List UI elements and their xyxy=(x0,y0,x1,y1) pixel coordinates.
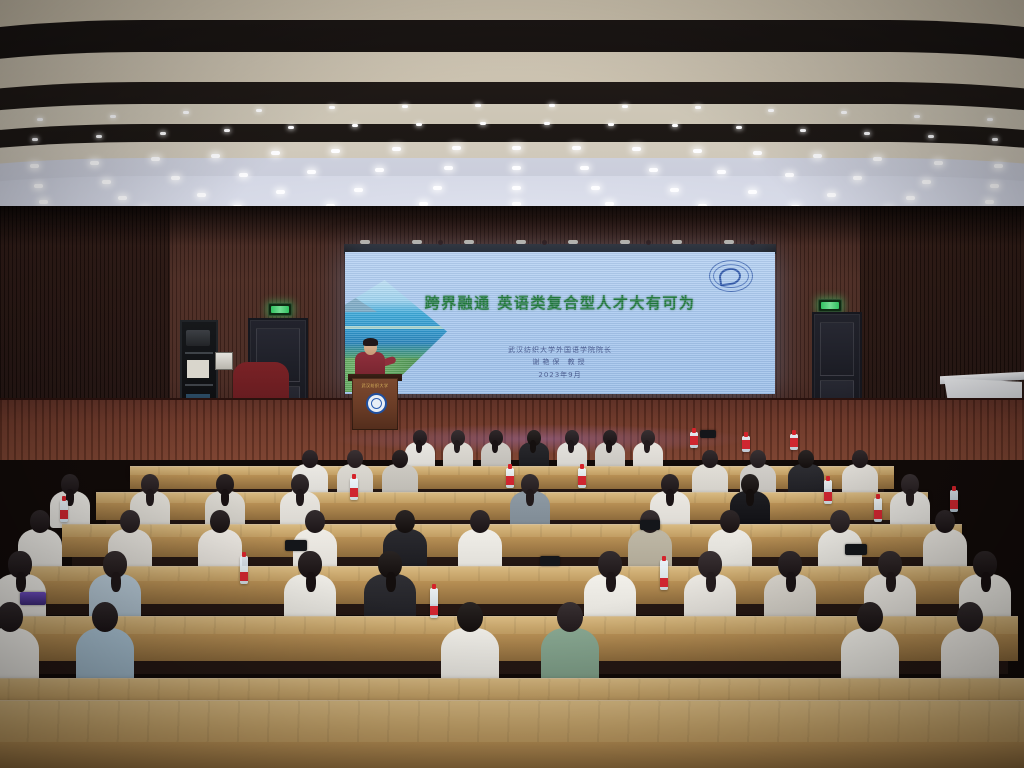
ceiling-downlight xyxy=(392,147,401,151)
podium-name-plate: 武汉纺织大学 xyxy=(352,383,398,389)
water-bottle xyxy=(60,500,68,522)
bottle-label xyxy=(824,492,832,501)
screen-hood-light xyxy=(516,240,526,244)
ceiling-speaker-dot xyxy=(542,240,547,245)
screen-hood-light xyxy=(568,240,578,244)
ceiling-downlight xyxy=(992,138,998,141)
ceiling-downlight xyxy=(649,168,658,172)
audience-person-ponytail xyxy=(492,440,498,453)
ceiling-downlight xyxy=(512,186,521,190)
bottle-label xyxy=(506,476,514,485)
ceiling-downlight xyxy=(480,122,486,125)
ceiling-downlight xyxy=(693,149,702,153)
ceiling-downlight xyxy=(990,184,999,188)
ceiling-downlight xyxy=(34,184,43,188)
audience-person-ponytail xyxy=(606,440,612,453)
ceiling-speaker-dot xyxy=(438,240,443,245)
ceiling-downlight xyxy=(211,154,220,158)
ceiling-downlight xyxy=(197,193,206,197)
audience-person-head xyxy=(798,450,814,468)
exit-sign-right xyxy=(818,299,842,312)
ceiling-downlight xyxy=(853,176,862,180)
audience-person-head xyxy=(395,510,415,533)
audience-person-ponytail xyxy=(981,572,991,593)
audience-person-head xyxy=(30,510,50,533)
ceiling-downlight xyxy=(30,164,39,168)
audience-person-ponytail xyxy=(746,489,754,506)
audience-person-torso xyxy=(441,628,500,682)
ceiling-downlight xyxy=(416,123,422,126)
ceiling-downlight xyxy=(402,105,408,108)
ceiling-downlight xyxy=(90,161,99,165)
audience-person-head xyxy=(302,450,318,468)
bottle-label xyxy=(950,500,958,509)
ceiling-speaker-dot xyxy=(750,240,755,245)
smartphone xyxy=(700,430,716,438)
audience-person-ponytail xyxy=(530,440,536,453)
audience-person-ponytail xyxy=(644,440,650,453)
audience-person-head xyxy=(120,510,140,533)
speaker-hair xyxy=(363,338,378,346)
ceiling-downlight xyxy=(352,124,358,127)
ceiling-downlight xyxy=(994,164,1003,168)
ceiling-downlight xyxy=(827,193,836,197)
ceiling-downlight xyxy=(452,146,461,150)
ceiling-downlight xyxy=(307,170,316,174)
ceiling-downlight xyxy=(608,123,614,126)
bottle-label xyxy=(690,436,698,445)
ceiling-downlight xyxy=(444,166,453,170)
ceiling-downlight xyxy=(748,190,757,194)
ceiling-downlight xyxy=(375,168,384,172)
smartphone xyxy=(285,540,307,551)
audience-person-head xyxy=(210,510,230,533)
audience-person-ponytail xyxy=(786,572,796,593)
ceiling-downlight xyxy=(672,124,678,127)
water-bottle xyxy=(578,468,586,488)
screen-hood-light xyxy=(620,240,630,244)
audience-person-torso xyxy=(458,529,503,570)
ceiling-downlight xyxy=(239,173,248,177)
audience-person-ponytail xyxy=(16,572,26,593)
water-bottle xyxy=(430,588,438,618)
audience-person-ponytail xyxy=(306,572,316,593)
screen-hood-light xyxy=(672,240,682,244)
bottle-label xyxy=(350,488,358,497)
ceiling-downlight xyxy=(110,115,116,118)
side-equipment-box xyxy=(215,352,233,370)
ceiling-downlight xyxy=(785,173,794,177)
bottle-label xyxy=(660,578,668,587)
screen-hood-light xyxy=(464,240,474,244)
wall-top-shadow xyxy=(0,206,1024,246)
audience-person-torso xyxy=(76,628,135,682)
ceiling-downlight xyxy=(934,161,943,165)
audience-person-ponytail xyxy=(416,440,422,453)
auditorium-ceiling xyxy=(0,0,1024,232)
ceiling-downlight xyxy=(873,157,882,161)
audience-person-head xyxy=(392,450,408,468)
water-bottle xyxy=(240,556,248,584)
podium-seal-emblem xyxy=(366,393,387,414)
rack-shelf xyxy=(185,384,213,386)
ceiling-speaker-dot xyxy=(646,240,651,245)
water-bottle xyxy=(690,432,698,448)
ceiling-downlight xyxy=(96,135,102,138)
ceiling-downlight xyxy=(544,122,550,125)
lecture-desk xyxy=(0,678,1024,701)
ceiling-downlight xyxy=(37,118,43,121)
audience-person-ponytail xyxy=(706,572,716,593)
ceiling-downlight xyxy=(39,200,48,204)
ceiling-downlight xyxy=(160,132,166,135)
ceiling-downlight xyxy=(276,190,285,194)
ceiling-downlight xyxy=(118,196,127,200)
audience-person-ponytail xyxy=(906,489,914,506)
ceiling-downlight xyxy=(736,126,742,129)
audience-person-head xyxy=(702,450,718,468)
audience-person-head xyxy=(347,450,363,468)
led-presentation-screen: 跨界融通 英语类复合型人才大有可为 武汉纺织大学外国语学院院长 谢艳保 教授 2… xyxy=(345,252,775,394)
ceiling-downlight xyxy=(800,129,806,132)
lecture-desk-front xyxy=(30,581,994,604)
ceiling-downlight xyxy=(914,115,920,118)
ceiling-downlight xyxy=(271,151,280,155)
rack-shelf xyxy=(185,352,213,354)
ceiling-downlight xyxy=(768,109,774,112)
ceiling-downlight xyxy=(928,135,934,138)
bottle-label xyxy=(790,438,798,447)
rack-notice-paper xyxy=(187,360,209,378)
foreground-desk-front xyxy=(0,742,1024,768)
audience-person-ponytail xyxy=(568,440,574,453)
audience-person-ponytail xyxy=(386,572,396,593)
audience-person-ponytail xyxy=(296,489,304,506)
ceiling-downlight xyxy=(717,170,726,174)
ceiling-downlight xyxy=(753,151,762,155)
door-panel-upper xyxy=(820,322,854,376)
screen-hood-light xyxy=(360,240,370,244)
bottle-label xyxy=(240,572,248,581)
audience-person-torso xyxy=(0,628,39,682)
ceiling-downlight xyxy=(906,196,915,200)
audience-person-head xyxy=(750,450,766,468)
audience-person-ponytail xyxy=(111,572,121,593)
desk-storage-shelf xyxy=(40,604,984,615)
ceiling-downlight xyxy=(670,188,679,192)
smartphone xyxy=(640,520,660,530)
ceiling-downlight xyxy=(512,146,521,150)
ceiling-downlight xyxy=(622,105,628,108)
screen-hood-light xyxy=(724,240,734,244)
ceiling-downlight xyxy=(151,157,160,161)
water-bottle xyxy=(660,560,668,590)
rack-equipment-icon xyxy=(186,330,210,346)
ceiling-downlight xyxy=(549,104,555,107)
ceiling-downlight xyxy=(32,138,38,141)
audience-person-head xyxy=(470,510,490,533)
audience-person-head xyxy=(852,450,868,468)
audience-person-ponytail xyxy=(454,440,460,453)
audience-person-head xyxy=(935,510,955,533)
audience-person-ponytail xyxy=(606,572,616,593)
audience-person-ponytail xyxy=(666,489,674,506)
foreground-desk xyxy=(0,700,1024,743)
smartphone xyxy=(540,556,560,566)
water-bottle xyxy=(506,468,514,488)
ceiling-downlight xyxy=(922,180,931,184)
ceiling-downlight xyxy=(171,176,180,180)
lecture-hall-photo: 跨界融通 英语类复合型人才大有可为 武汉纺织大学外国语学院院长 谢艳保 教授 2… xyxy=(0,0,1024,768)
smartphone xyxy=(845,544,867,555)
audience-person-torso xyxy=(841,628,900,682)
water-bottle xyxy=(824,480,832,504)
water-bottle xyxy=(742,436,750,452)
audience-person-ponytail xyxy=(146,489,154,506)
lecture-desk xyxy=(30,566,994,582)
ceiling-downlight xyxy=(354,188,363,192)
water-bottle xyxy=(790,434,798,450)
audience-person-ponytail xyxy=(526,489,534,506)
bottle-label xyxy=(742,440,750,449)
smartphone xyxy=(20,592,46,605)
ceiling-downlight xyxy=(102,180,111,184)
water-bottle xyxy=(950,490,958,512)
audience-person-torso xyxy=(198,529,243,570)
ceiling-downlight xyxy=(813,154,822,158)
bottle-label xyxy=(874,510,882,519)
ceiling-downlight xyxy=(288,126,294,129)
audience-person-torso xyxy=(541,628,600,682)
audience-person-torso xyxy=(941,628,1000,682)
ceiling-downlight xyxy=(331,149,340,153)
audience-person-torso xyxy=(923,529,968,570)
bottle-label xyxy=(60,510,68,519)
exit-sign-left xyxy=(268,303,292,316)
audience-person-head xyxy=(830,510,850,533)
ceiling-downlight xyxy=(512,166,521,170)
ceiling-downlight xyxy=(572,146,581,150)
water-bottle xyxy=(874,498,882,522)
ceiling-downlight xyxy=(985,200,994,204)
led-scanlines xyxy=(345,252,775,394)
audience-person-ponytail xyxy=(221,489,229,506)
water-bottle xyxy=(350,478,358,500)
audience-person-head xyxy=(305,510,325,533)
ceiling-downlight xyxy=(256,109,262,112)
audience-person-ponytail xyxy=(886,572,896,593)
audience-person-head xyxy=(720,510,740,533)
bottle-label xyxy=(430,606,438,615)
ceiling-downlight xyxy=(864,132,870,135)
screen-hood-light xyxy=(412,240,422,244)
ceiling-downlight xyxy=(224,129,230,132)
ceiling-downlight xyxy=(591,186,600,190)
bottle-label xyxy=(578,476,586,485)
